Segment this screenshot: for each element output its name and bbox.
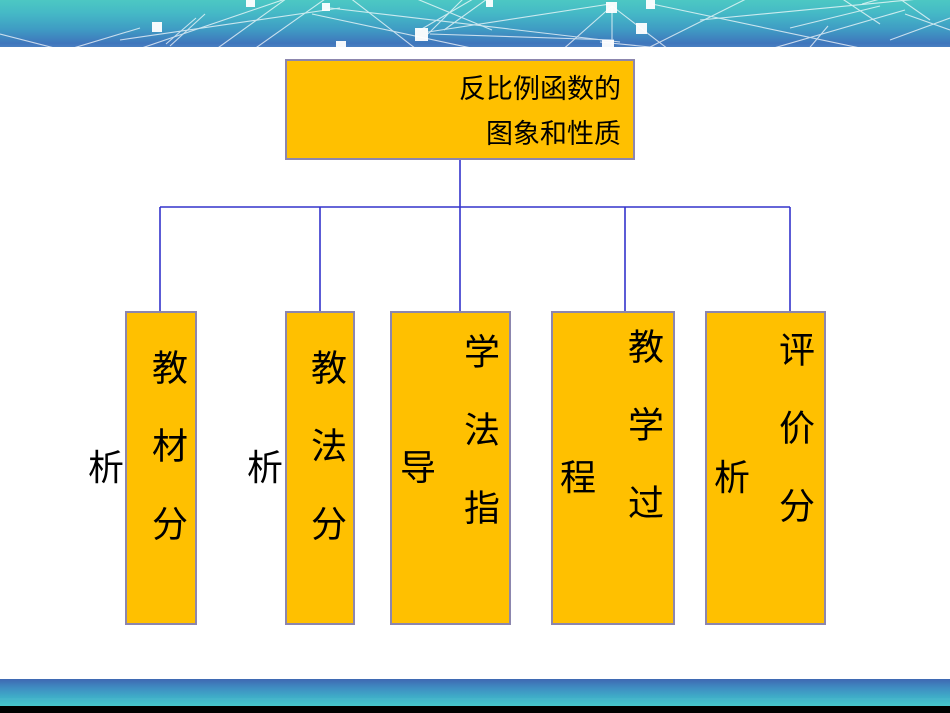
footer-banner <box>0 679 950 706</box>
branch-node-teaching-method-analysis-overflow: 析 <box>247 450 283 486</box>
title-line-2: 图象和性质 <box>459 112 621 157</box>
branch-node-textbook-analysis-label: 教材分 <box>142 349 191 579</box>
branch-node-evaluation-analysis-label: 评价分 <box>769 331 818 583</box>
footer-decoration <box>0 679 950 706</box>
branch-node-teaching-process-label: 教学过 <box>618 328 667 583</box>
branch-node-study-method-guidance-overflow: 导 <box>400 450 436 486</box>
title-node-text: 反比例函数的 图象和性质 <box>459 67 621 157</box>
title-node[interactable]: 反比例函数的 图象和性质 <box>285 59 635 160</box>
header-network-decoration <box>0 0 950 47</box>
branch-node-textbook-analysis-overflow: 析 <box>88 450 124 486</box>
branch-node-evaluation-analysis-overflow: 析 <box>714 460 750 496</box>
branch-node-teaching-method-analysis-label: 教法分 <box>301 349 350 579</box>
title-line-1: 反比例函数的 <box>459 67 621 112</box>
branch-node-teaching-method-analysis[interactable]: 教法分 <box>285 311 355 625</box>
branch-node-textbook-analysis[interactable]: 教材分 <box>125 311 197 625</box>
header-banner <box>0 0 950 47</box>
slide-canvas: 反比例函数的 图象和性质 教材分 析 教法分 析 学法指 导 教学过 程 评价分… <box>0 0 950 713</box>
branch-node-teaching-process-overflow: 程 <box>560 460 596 496</box>
branch-node-study-method-guidance-label: 学法指 <box>454 333 503 583</box>
footer-edge-bar <box>0 706 950 713</box>
